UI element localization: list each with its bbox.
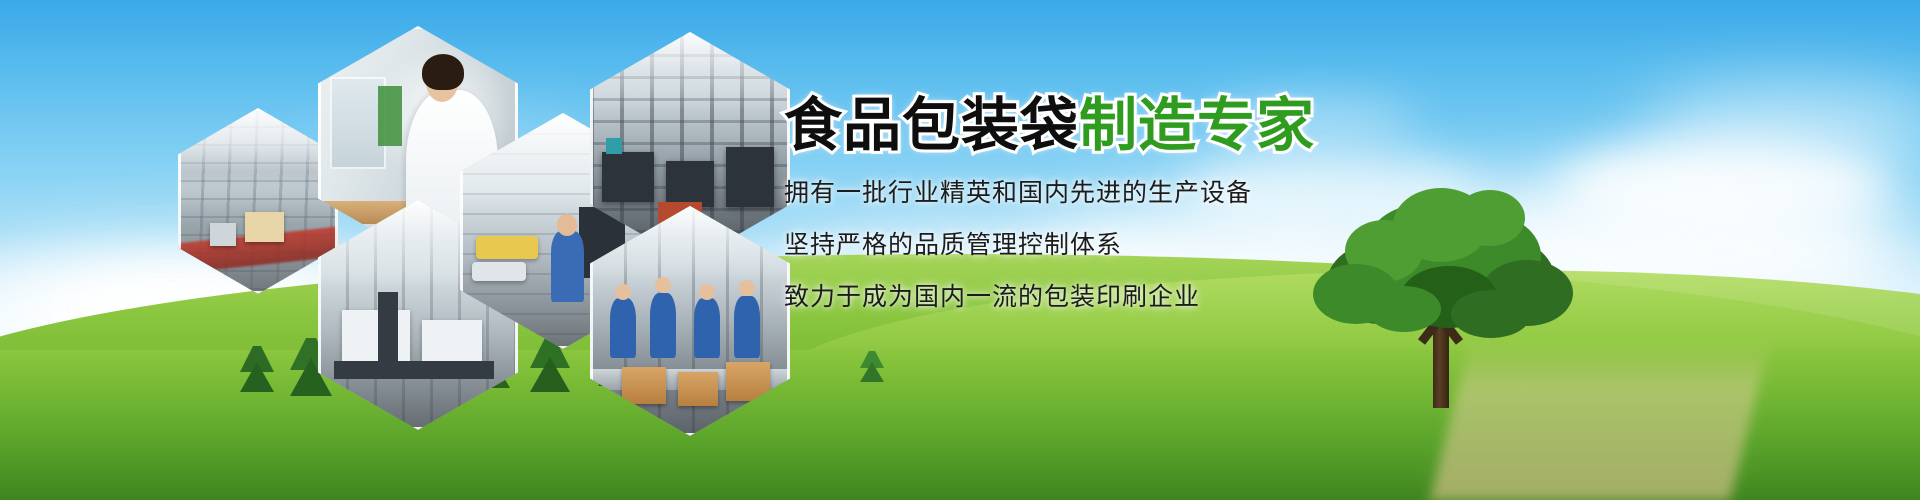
- subtitle-line-3: 致力于成为国内一流的包装印刷企业: [784, 284, 1484, 309]
- headline: 食品包装袋制造专家: [784, 96, 1484, 154]
- subtitle-list: 拥有一批行业精英和国内先进的生产设备 坚持严格的品质管理控制体系 致力于成为国内…: [784, 180, 1484, 309]
- headline-part-black: 食品包装袋: [784, 91, 1079, 159]
- subtitle-line-2: 坚持严格的品质管理控制体系: [784, 232, 1484, 257]
- hex-photo-collage: [170, 18, 790, 368]
- subtitle-line-1: 拥有一批行业精英和国内先进的生产设备: [784, 180, 1484, 205]
- hero-banner: 食品包装袋制造专家 拥有一批行业精英和国内先进的生产设备 坚持严格的品质管理控制…: [0, 0, 1920, 500]
- headline-part-green: 制造专家: [1079, 91, 1315, 159]
- hex-photo-warehouse-aisle[interactable]: [178, 108, 338, 294]
- banner-text-block: 食品包装袋制造专家 拥有一批行业精英和国内先进的生产设备 坚持严格的品质管理控制…: [784, 96, 1484, 309]
- hex-rim: [178, 108, 338, 294]
